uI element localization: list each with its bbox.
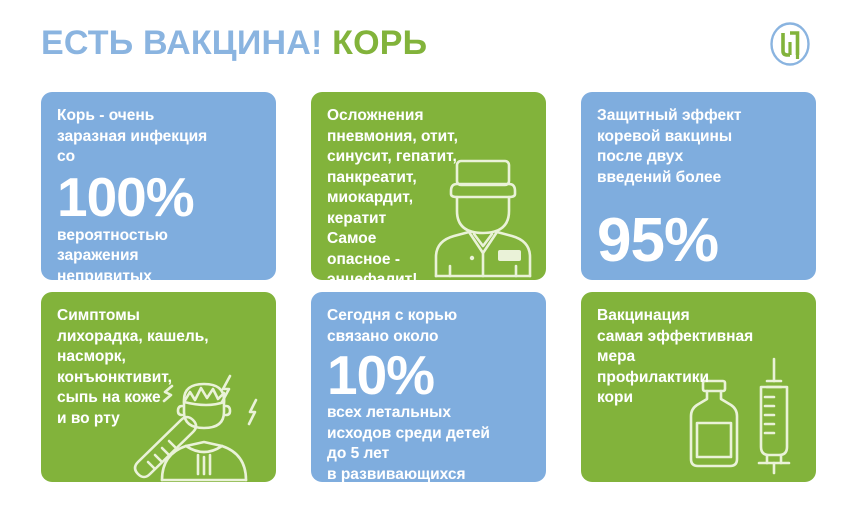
card-lead-text: Вакцинация самая эффективная мера профил… xyxy=(597,306,802,409)
card-lead-text: Защитный эффект коревой вакцины после дв… xyxy=(597,106,802,188)
card-mortality-share[interactable]: Сегодня с корью связано около 10% всех л… xyxy=(311,292,546,482)
card-lead-text: Осложнения пневмония, отит, синусит, геп… xyxy=(327,106,532,280)
card-trail-text: всех летальных исходов среди детей до 5 … xyxy=(327,403,532,482)
card-complications[interactable]: Осложнения пневмония, отит, синусит, геп… xyxy=(311,92,546,280)
card-vaccine-protection[interactable]: Защитный эффект коревой вакцины после дв… xyxy=(581,92,816,280)
card-lead-text: Симптомы лихорадка, кашель, насморк, кон… xyxy=(57,306,262,429)
card-symptoms[interactable]: Симптомы лихорадка, кашель, насморк, кон… xyxy=(41,292,276,482)
card-big-value: 95% xyxy=(597,212,802,270)
infographic-page: ЕСТЬ ВАКЦИНА! КОРЬ Корь - очень заразная… xyxy=(0,0,857,521)
card-trail-text: вероятностью заражения непривитых xyxy=(57,226,262,281)
card-measles-contagiousness[interactable]: Корь - очень заразная инфекция со 100% в… xyxy=(41,92,276,280)
title-part-blue: ЕСТЬ ВАКЦИНА! xyxy=(41,24,323,62)
card-big-value: 100% xyxy=(57,168,262,226)
card-big-value: 10% xyxy=(327,347,532,403)
page-title: ЕСТЬ ВАКЦИНА! КОРЬ xyxy=(41,23,427,63)
card-lead-text: Сегодня с корью связано около xyxy=(327,306,532,347)
card-vaccination-prevention[interactable]: Вакцинация самая эффективная мера профил… xyxy=(581,292,816,482)
cards-grid: Корь - очень заразная инфекция со 100% в… xyxy=(41,92,816,482)
header: ЕСТЬ ВАКЦИНА! КОРЬ xyxy=(0,0,857,88)
title-part-green: КОРЬ xyxy=(332,24,427,62)
card-lead-text: Корь - очень заразная инфекция со xyxy=(57,106,262,168)
organization-logo xyxy=(766,20,814,68)
